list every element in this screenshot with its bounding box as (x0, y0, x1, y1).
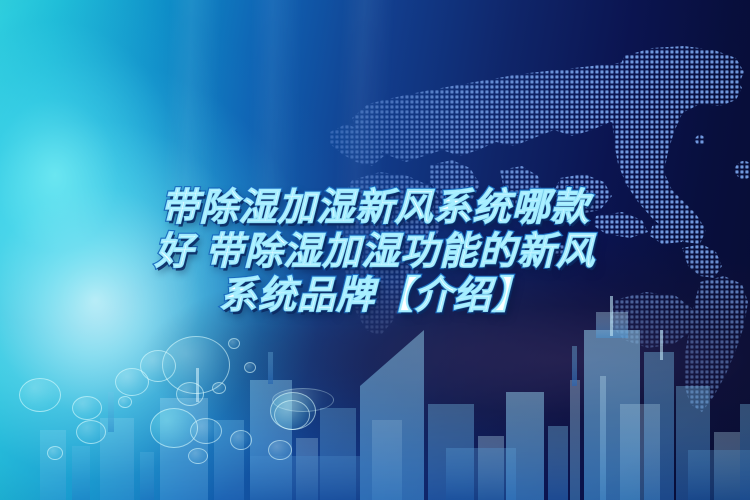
bubble (76, 420, 106, 444)
bubble (72, 396, 102, 420)
bubble (176, 382, 204, 406)
bubble (188, 448, 208, 464)
headline-line-1: 带除湿加湿新风系统哪款 (0, 186, 750, 230)
headline-line-2: 好 带除湿加湿功能的新风 (0, 230, 750, 274)
bubble (212, 382, 226, 394)
bubble (162, 336, 230, 394)
bubble (244, 362, 256, 373)
bubble (118, 396, 132, 408)
bubble (190, 418, 222, 444)
bubble (228, 338, 240, 349)
bubble (270, 392, 316, 430)
bubble (140, 350, 176, 382)
banner: 带除湿加湿新风系统哪款 好 带除湿加湿功能的新风 系统品牌【介绍】 带除湿加湿新… (0, 0, 750, 500)
bubble (272, 388, 334, 412)
bubble (274, 400, 310, 430)
bubble (19, 378, 61, 412)
bubble (268, 440, 292, 460)
bubble (230, 430, 252, 450)
headline-line-3: 系统品牌【介绍】 (0, 274, 750, 318)
headline: 带除湿加湿新风系统哪款 好 带除湿加湿功能的新风 系统品牌【介绍】 (0, 186, 750, 318)
bubble (47, 446, 63, 460)
bubble (115, 368, 149, 396)
bubble (150, 408, 198, 448)
